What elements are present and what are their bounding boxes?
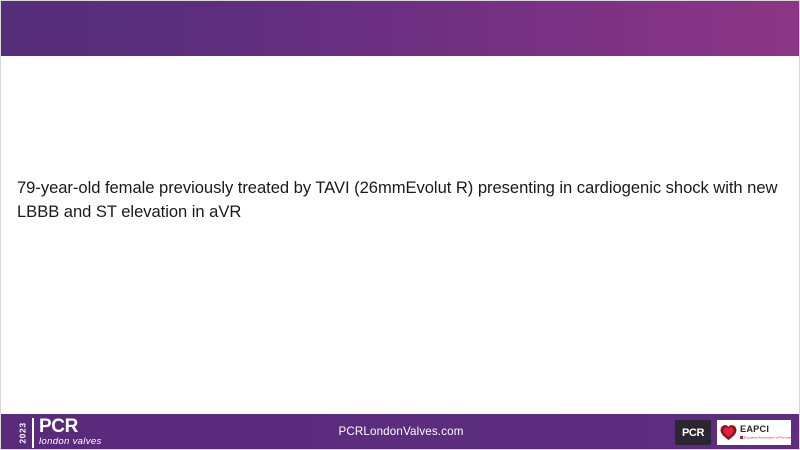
slide-body: 79-year-old female previously treated by… [1,56,800,414]
heart-icon [720,424,737,441]
eapci-tagline-bullet [740,436,743,439]
pcr-badge-logo: PCR [675,420,711,445]
eapci-tagline: European Association of Percutaneous Car… [740,436,800,439]
pcr-badge-label: PCR [682,427,704,439]
eapci-label: EAPCI [740,425,800,434]
eapci-text-block: EAPCI European Association of Percutaneo… [740,425,800,439]
top-gradient-banner [1,1,800,56]
footer-logo-group: PCR EAPCI European Association of Percut… [675,420,791,445]
eapci-tagline-text: European Association of Percutaneous Car… [744,436,800,440]
slide-main-text: 79-year-old female previously treated by… [17,176,789,224]
eapci-badge-logo: EAPCI European Association of Percutaneo… [717,420,791,445]
slide-canvas: 79-year-old female previously treated by… [0,0,800,450]
